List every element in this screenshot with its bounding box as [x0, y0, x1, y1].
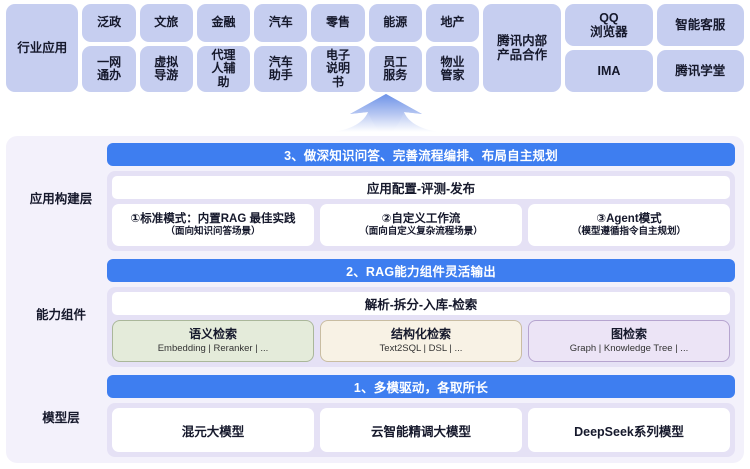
model-cards-row: 混元大模型 云智能精调大模型 DeepSeek系列模型 — [112, 408, 730, 452]
retrieval-sub-structured: Text2SQL | DSL | ... — [380, 343, 463, 355]
industry-chip-wuyeguanjia[interactable]: 物业管家 — [426, 46, 479, 92]
industry-column-4: 零售 电子说明书 — [311, 4, 364, 92]
industry-chip-dichan[interactable]: 地产 — [426, 4, 479, 42]
layer-model: 模型层 1、多模驱动，各取所长 混元大模型 云智能精调大模型 DeepSeek系… — [15, 375, 735, 457]
model-inner: 混元大模型 云智能精调大模型 DeepSeek系列模型 — [107, 403, 735, 457]
product-chip-ima[interactable]: IMA — [565, 50, 652, 92]
banner-application-build: 3、做深知识问答、完善流程编排、布局自主规划 — [107, 143, 735, 166]
industry-chip-qiche[interactable]: 汽车 — [254, 4, 307, 42]
mode-title-custom-workflow: ②自定义工作流 — [382, 212, 461, 226]
tencent-products-row-1: IMA 腾讯学堂 — [565, 50, 744, 92]
retrieval-card-structured[interactable]: 结构化检索 Text2SQL | DSL | ... — [320, 320, 522, 362]
industry-column-0: 泛政 一网通办 — [82, 4, 135, 92]
mode-card-custom-workflow[interactable]: ②自定义工作流 （面向自定义复杂流程场景） — [320, 204, 522, 246]
retrieval-title-graph: 图检索 — [611, 327, 647, 343]
model-card-cloud-finetuned[interactable]: 云智能精调大模型 — [320, 408, 522, 452]
retrieval-title-structured: 结构化检索 — [391, 327, 451, 343]
industry-column-3: 汽车 汽车助手 — [254, 4, 307, 92]
industry-column-1: 文旅 虚拟导游 — [140, 4, 193, 92]
mode-card-standard[interactable]: ①标准模式：内置RAG 最佳实践 （面向知识问答场景） — [112, 204, 314, 246]
retrieval-sub-graph: Graph | Knowledge Tree | ... — [570, 343, 688, 355]
product-chip-tencent-academy[interactable]: 腾讯学堂 — [657, 50, 744, 92]
layer-body-capability-components: 2、RAG能力组件灵活输出 解析-拆分-入库-检索 语义检索 Embedding… — [107, 259, 735, 367]
retrieval-card-graph[interactable]: 图检索 Graph | Knowledge Tree | ... — [528, 320, 730, 362]
mode-sub-custom-workflow: （面向自定义复杂流程场景） — [359, 226, 483, 238]
model-card-deepseek[interactable]: DeepSeek系列模型 — [528, 408, 730, 452]
industry-chip-tencent-internal[interactable]: 腾讯内部产品合作 — [483, 4, 561, 92]
model-card-hunyuan[interactable]: 混元大模型 — [112, 408, 314, 452]
application-build-inner: 应用配置-评测-发布 ①标准模式：内置RAG 最佳实践 （面向知识问答场景） ②… — [107, 171, 735, 251]
industry-chip-yiwangtongban[interactable]: 一网通办 — [82, 46, 135, 92]
layer-label-capability-components: 能力组件 — [15, 259, 107, 367]
industry-applications-label: 行业应用 — [6, 4, 78, 92]
industry-chip-yuangongfuwu[interactable]: 员工服务 — [369, 46, 422, 92]
application-modes-row: ①标准模式：内置RAG 最佳实践 （面向知识问答场景） ②自定义工作流 （面向自… — [112, 204, 730, 246]
layer-application-build: 应用构建层 3、做深知识问答、完善流程编排、布局自主规划 应用配置-评测-发布 … — [15, 143, 735, 251]
application-config-bar[interactable]: 应用配置-评测-发布 — [112, 176, 730, 199]
banner-model: 1、多模驱动，各取所长 — [107, 375, 735, 398]
layer-body-model: 1、多模驱动，各取所长 混元大模型 云智能精调大模型 DeepSeek系列模型 — [107, 375, 735, 457]
product-chip-qq-browser[interactable]: QQ浏览器 — [565, 4, 652, 46]
industry-column-6: 地产 物业管家 — [426, 4, 479, 92]
product-chip-smart-customer-service[interactable]: 智能客服 — [657, 4, 744, 46]
industry-chip-dianzishuomingshu[interactable]: 电子说明书 — [311, 46, 364, 92]
industry-chip-qichezhushou[interactable]: 汽车助手 — [254, 46, 307, 92]
architecture-diagram: 行业应用 泛政 一网通办 文旅 虚拟导游 金融 代理人辅助 汽车 汽车助手 零售… — [0, 0, 750, 469]
retrieval-title-semantic: 语义检索 — [189, 327, 237, 343]
layer-label-application-build: 应用构建层 — [15, 143, 107, 251]
layer-label-model: 模型层 — [15, 375, 107, 457]
industry-chip-wenlv[interactable]: 文旅 — [140, 4, 193, 42]
industry-chip-jinrong[interactable]: 金融 — [197, 4, 250, 42]
pipeline-bar[interactable]: 解析-拆分-入库-检索 — [112, 292, 730, 315]
industry-chip-fanzheng[interactable]: 泛政 — [82, 4, 135, 42]
layer-capability-components: 能力组件 2、RAG能力组件灵活输出 解析-拆分-入库-检索 语义检索 Embe… — [15, 259, 735, 367]
industry-column-2: 金融 代理人辅助 — [197, 4, 250, 92]
industry-chip-dailirenfuzhu[interactable]: 代理人辅助 — [197, 46, 250, 92]
industry-chip-lingshou[interactable]: 零售 — [311, 4, 364, 42]
tencent-products-grid: QQ浏览器 智能客服 IMA 腾讯学堂 — [565, 4, 744, 92]
tencent-products-row-0: QQ浏览器 智能客服 — [565, 4, 744, 46]
mode-sub-standard: （面向知识问答场景） — [165, 226, 260, 238]
retrieval-card-semantic[interactable]: 语义检索 Embedding | Reranker | ... — [112, 320, 314, 362]
mode-card-agent[interactable]: ③Agent模式 （模型遵循指令自主规划） — [528, 204, 730, 246]
layer-body-application-build: 3、做深知识问答、完善流程编排、布局自主规划 应用配置-评测-发布 ①标准模式：… — [107, 143, 735, 251]
banner-capability-components: 2、RAG能力组件灵活输出 — [107, 259, 735, 282]
upward-arrow-icon — [330, 92, 442, 132]
retrieval-sub-semantic: Embedding | Reranker | ... — [158, 343, 269, 355]
industry-applications-band: 行业应用 泛政 一网通办 文旅 虚拟导游 金融 代理人辅助 汽车 汽车助手 零售… — [6, 4, 744, 92]
retrieval-cards-row: 语义检索 Embedding | Reranker | ... 结构化检索 Te… — [112, 320, 730, 362]
mode-sub-agent: （模型遵循指令自主规划） — [572, 226, 686, 238]
industry-column-5: 能源 员工服务 — [369, 4, 422, 92]
platform-panel: 应用构建层 3、做深知识问答、完善流程编排、布局自主规划 应用配置-评测-发布 … — [6, 136, 744, 463]
mode-title-agent: ③Agent模式 — [596, 212, 661, 226]
capability-inner: 解析-拆分-入库-检索 语义检索 Embedding | Reranker | … — [107, 287, 735, 367]
industry-chip-nengyuan[interactable]: 能源 — [369, 4, 422, 42]
mode-title-standard: ①标准模式：内置RAG 最佳实践 — [131, 212, 296, 226]
industry-chip-xunidaoyou[interactable]: 虚拟导游 — [140, 46, 193, 92]
